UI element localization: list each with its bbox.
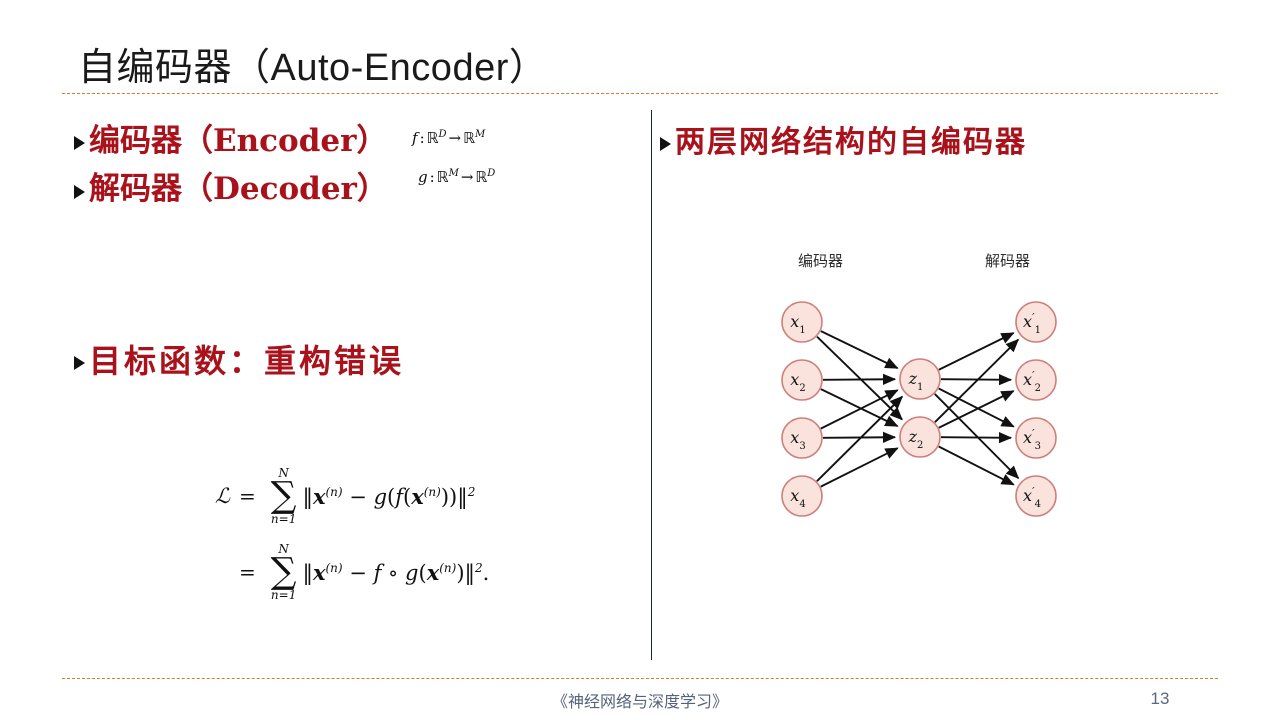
- summation-1: N ∑ n=1: [271, 467, 297, 524]
- network-edges: [817, 331, 1018, 486]
- bullet-triangle-icon: [660, 137, 671, 151]
- network-node-x3: x3: [782, 418, 822, 458]
- node-circle: [1016, 360, 1056, 400]
- network-node-x2p: x′2: [1016, 360, 1056, 400]
- network-node-x3p: x′3: [1016, 418, 1056, 458]
- loss1-var: x: [313, 484, 326, 509]
- loss-formula-block: ℒ = N ∑ n=1 ‖x(n) − g(f(x(n)))‖2 = N ∑ n…: [196, 458, 489, 610]
- loss2-var-sup: (n): [326, 561, 343, 575]
- decoder-codomain: ℝ: [475, 168, 487, 186]
- network-edge: [823, 437, 895, 438]
- bullet-triangle-icon: [74, 356, 85, 370]
- footer-book-title: 《神经网络与深度学习》: [0, 688, 1280, 712]
- network-node-z1: z1: [900, 359, 940, 399]
- loss2-power: 2: [475, 561, 483, 575]
- network-node-x1p: x′1: [1016, 302, 1056, 342]
- bullet-objective-label: 目标函数：重构错误: [89, 343, 404, 379]
- loss2-outer-fn: f: [374, 561, 382, 585]
- node-circle: [782, 418, 822, 458]
- page-number: 13: [1140, 689, 1180, 709]
- loss-symbol: ℒ: [196, 484, 230, 508]
- loss1-var-sup: (n): [326, 485, 343, 499]
- sum-lower-limit-2: n=1: [271, 589, 296, 601]
- bullet-encoder: 编码器（Encoder）: [74, 124, 387, 158]
- footer-divider-rule: [62, 678, 1218, 679]
- encoder-arrow-icon: →: [447, 129, 464, 147]
- network-edge: [939, 447, 1014, 485]
- decoder-domain-exp: M: [449, 168, 459, 179]
- bullet-objective-function: 目标函数：重构错误: [74, 343, 404, 379]
- loss-expression-1: ‖x(n) − g(f(x(n)))‖2: [302, 484, 475, 509]
- network-edge: [821, 331, 898, 368]
- network-edge: [941, 379, 1011, 380]
- autoencoder-network-diagram: 编码器 解码器 x1x2x3x4z1z2x′1x′2x′3x′4: [760, 240, 1080, 540]
- equals-sign-2: =: [230, 560, 265, 584]
- sum-lower-limit-1: n=1: [271, 513, 296, 525]
- decoder-domain: ℝ: [437, 168, 449, 186]
- diagram-decoder-label: 解码器: [985, 250, 1030, 271]
- bullet-decoder-label: 解码器（Decoder）: [89, 172, 388, 206]
- node-circle: [1016, 476, 1056, 516]
- decoder-mapping-formula: g:ℝM→ℝD: [418, 168, 495, 186]
- summation-2: N ∑ n=1: [271, 543, 297, 600]
- page-title: 自编码器（Auto-Encoder）: [78, 36, 547, 91]
- loss2-compose-icon: ∘: [388, 561, 398, 585]
- bullet-two-layer-autoencoder: 两层网络结构的自编码器: [660, 126, 1027, 159]
- network-node-x1: x1: [782, 302, 822, 342]
- node-circle: [782, 360, 822, 400]
- title-divider-rule: [62, 93, 1218, 94]
- loss-formula-line-2: = N ∑ n=1 ‖x(n) − f ∘ g(x(n))‖2.: [196, 534, 489, 610]
- encoder-domain: ℝ: [427, 129, 439, 147]
- encoder-colon: :: [418, 129, 427, 147]
- decoder-colon: :: [428, 168, 437, 186]
- bullet-decoder: 解码器（Decoder）: [74, 172, 388, 206]
- encoder-fn: f: [412, 129, 418, 147]
- node-circle: [1016, 302, 1056, 342]
- loss1-outer-fn: g: [374, 485, 387, 509]
- bullet-two-layer-label: 两层网络结构的自编码器: [675, 126, 1027, 159]
- decoder-fn: g: [418, 168, 428, 186]
- loss-expression-2: ‖x(n) − f ∘ g(x(n))‖2.: [302, 560, 489, 585]
- encoder-mapping-formula: f:ℝD→ℝM: [412, 129, 485, 147]
- node-circle: [1016, 418, 1056, 458]
- decoder-codomain-exp: D: [487, 168, 495, 179]
- network-edge: [821, 390, 898, 428]
- loss1-inner-fn: f: [395, 485, 403, 509]
- equals-sign-1: =: [230, 484, 265, 508]
- network-edge: [821, 389, 898, 426]
- network-node-x4p: x′4: [1016, 476, 1056, 516]
- network-node-x4: x4: [782, 476, 822, 516]
- sigma-icon: ∑: [271, 479, 297, 512]
- loss-formula-line-1: ℒ = N ∑ n=1 ‖x(n) − g(f(x(n)))‖2: [196, 458, 489, 534]
- loss2-var: x: [313, 560, 326, 585]
- loss1-power: 2: [468, 485, 476, 499]
- bullet-triangle-icon: [74, 136, 85, 150]
- bullet-encoder-label: 编码器（Encoder）: [89, 124, 387, 158]
- node-circle: [900, 417, 940, 457]
- node-circle: [782, 302, 822, 342]
- loss1-minus: −: [349, 485, 367, 509]
- decoder-arrow-icon: →: [459, 168, 476, 186]
- bullet-triangle-icon: [74, 185, 85, 199]
- network-node-x2: x2: [782, 360, 822, 400]
- network-graph-svg: x1x2x3x4z1z2x′1x′2x′3x′4: [760, 240, 1080, 540]
- network-node-z2: z2: [900, 417, 940, 457]
- loss2-inner-fn: g: [405, 561, 418, 585]
- encoder-domain-exp: D: [439, 129, 447, 140]
- network-edge: [821, 448, 898, 486]
- diagram-encoder-label: 编码器: [798, 250, 843, 271]
- loss2-period: .: [483, 561, 490, 585]
- sigma-icon: ∑: [271, 555, 297, 588]
- network-edge: [823, 379, 895, 380]
- encoder-codomain: ℝ: [463, 129, 475, 147]
- network-edge: [941, 437, 1011, 438]
- node-circle: [900, 359, 940, 399]
- encoder-codomain-exp: M: [475, 129, 485, 140]
- network-nodes: x1x2x3x4z1z2x′1x′2x′3x′4: [782, 302, 1056, 516]
- network-edge: [939, 333, 1014, 370]
- node-circle: [782, 476, 822, 516]
- column-divider: [651, 110, 652, 660]
- loss2-minus: −: [349, 561, 367, 585]
